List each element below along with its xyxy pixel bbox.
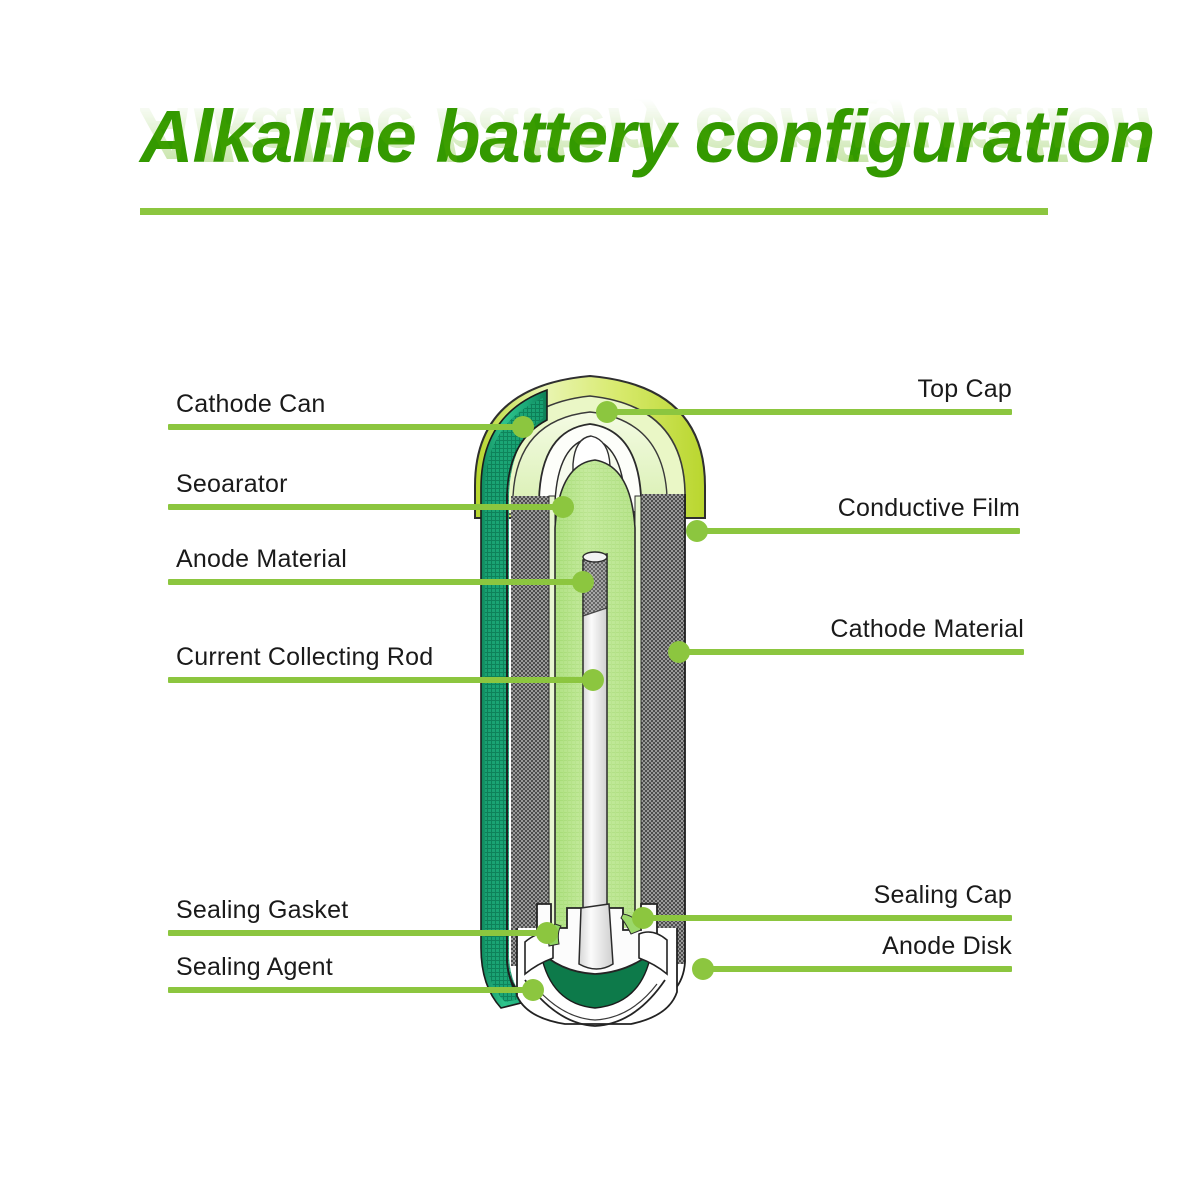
callout-label-anode-material[interactable]: Anode Material	[176, 545, 347, 574]
callout-leader-current-collecting-rod	[168, 677, 596, 683]
callout-dot-anode-disk	[692, 958, 714, 980]
callout-label-top-cap[interactable]: Top Cap	[0, 375, 1012, 404]
callout-label-cathode-material[interactable]: Cathode Material	[0, 615, 1024, 644]
callout-leader-anode-disk	[696, 966, 1012, 972]
callout-dot-cathode-material	[668, 641, 690, 663]
callout-label-current-collecting-rod[interactable]: Current Collecting Rod	[176, 643, 433, 672]
callout-dot-anode-material	[572, 571, 594, 593]
title-underline-rule	[140, 208, 1048, 215]
callout-leader-sealing-cap	[636, 915, 1012, 921]
callout-dot-top-cap	[596, 401, 618, 423]
callout-dot-conductive-film	[686, 520, 708, 542]
callout-label-sealing-cap[interactable]: Sealing Cap	[0, 881, 1012, 910]
callout-leader-top-cap	[600, 409, 1012, 415]
page-root: Alkaline battery configuration Alkaline …	[0, 0, 1200, 1200]
callout-leader-conductive-film	[690, 528, 1020, 534]
page-title: Alkaline battery configuration	[140, 96, 1154, 178]
callout-dot-sealing-cap	[632, 907, 654, 929]
callout-label-conductive-film[interactable]: Conductive Film	[0, 494, 1020, 523]
callout-leader-cathode-material	[672, 649, 1024, 655]
callout-dot-cathode-can	[512, 416, 534, 438]
callout-label-anode-disk[interactable]: Anode Disk	[0, 932, 1012, 961]
page-title-block: Alkaline battery configuration Alkaline …	[140, 96, 1060, 221]
current-collecting-rod	[583, 552, 607, 914]
callout-leader-cathode-can	[168, 424, 526, 430]
callout-leader-anode-material	[168, 579, 586, 585]
callout-leader-sealing-agent	[168, 987, 536, 993]
callout-dot-current-collecting-rod	[582, 669, 604, 691]
callout-dot-sealing-agent	[522, 979, 544, 1001]
